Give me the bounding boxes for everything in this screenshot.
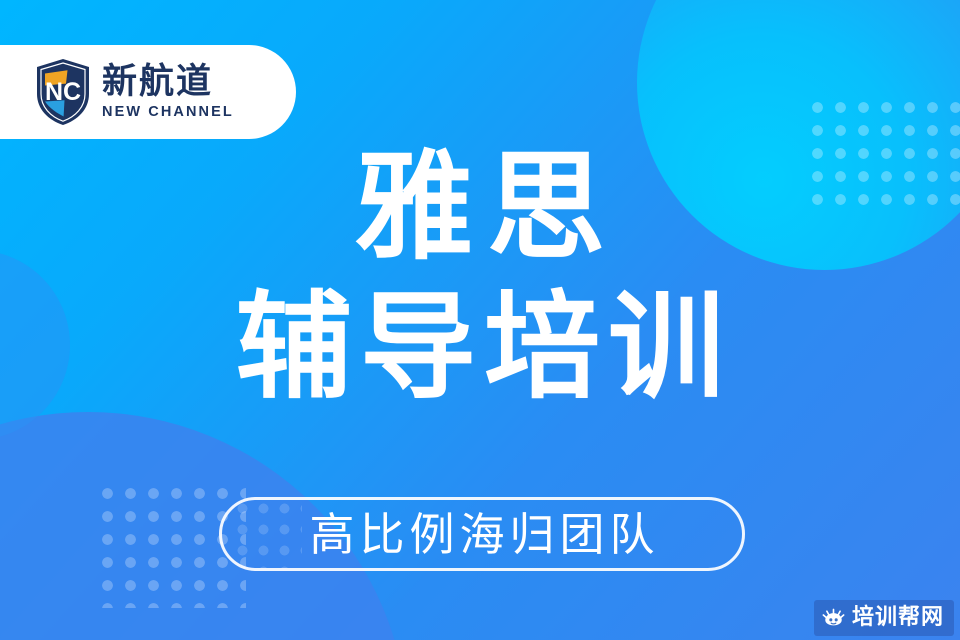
svg-text:NC: NC (45, 78, 81, 106)
logo-brand-cn: 新航道 (102, 65, 234, 100)
logo-text-block: 新航道 NEW CHANNEL (102, 65, 234, 120)
poster-root: NC 新航道 NEW CHANNEL 雅思 辅导培训 高比例海归团队 (0, 0, 960, 640)
watermark-text: 培训帮网 (852, 607, 944, 629)
headline-block: 雅思 辅导培训 (0, 148, 960, 406)
logo-plate: NC 新航道 NEW CHANNEL (0, 45, 296, 139)
nc-shield-icon: NC (34, 58, 92, 126)
logo-brand-en: NEW CHANNEL (102, 105, 234, 120)
subtitle-text: 高比例海归团队 (304, 512, 659, 557)
watermark: 培训帮网 (814, 600, 954, 636)
subtitle-pill: 高比例海归团队 (219, 497, 745, 571)
sun-face-icon (822, 607, 845, 630)
headline-line-2: 辅导培训 (0, 290, 960, 406)
headline-line-1: 雅思 (0, 148, 960, 266)
